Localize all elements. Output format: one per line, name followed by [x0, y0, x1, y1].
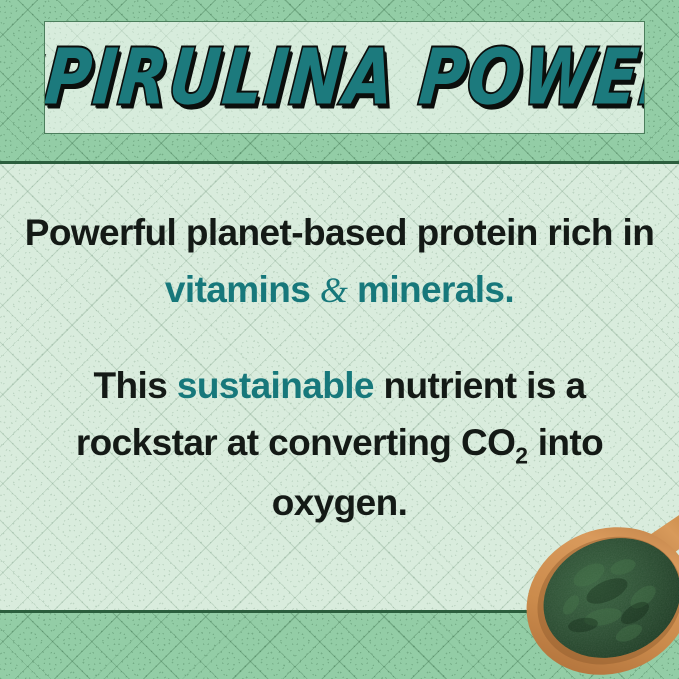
- page-title: SPIRULINA POWER: [44, 39, 645, 116]
- spirulina-poster: SPIRULINA POWER Powerful planet-based pr…: [0, 0, 679, 679]
- ampersand-symbol: &: [320, 270, 347, 310]
- paragraph-protein: Powerful planet-based protein rich in vi…: [22, 204, 657, 319]
- highlight-sustainable: sustainable: [177, 365, 374, 406]
- footer-band: [0, 610, 679, 679]
- paragraph-2-text-lead: This: [94, 365, 177, 406]
- title-box: SPIRULINA POWER: [44, 21, 645, 134]
- copy-block: Powerful planet-based protein rich in vi…: [0, 164, 679, 532]
- highlight-vitamins: vitamins: [165, 269, 310, 310]
- space-1: [310, 269, 320, 310]
- co2-subscript: 2: [515, 443, 528, 469]
- body-area: Powerful planet-based protein rich in vi…: [0, 164, 679, 610]
- paragraph-1-text-lead: Powerful planet-based protein rich in: [25, 212, 655, 253]
- highlight-minerals: minerals.: [357, 269, 514, 310]
- paragraph-sustainable: This sustainable nutrient is a rockstar …: [22, 357, 657, 532]
- footer-texture: [0, 613, 679, 679]
- header-band: SPIRULINA POWER: [0, 0, 679, 164]
- space-2: [347, 269, 357, 310]
